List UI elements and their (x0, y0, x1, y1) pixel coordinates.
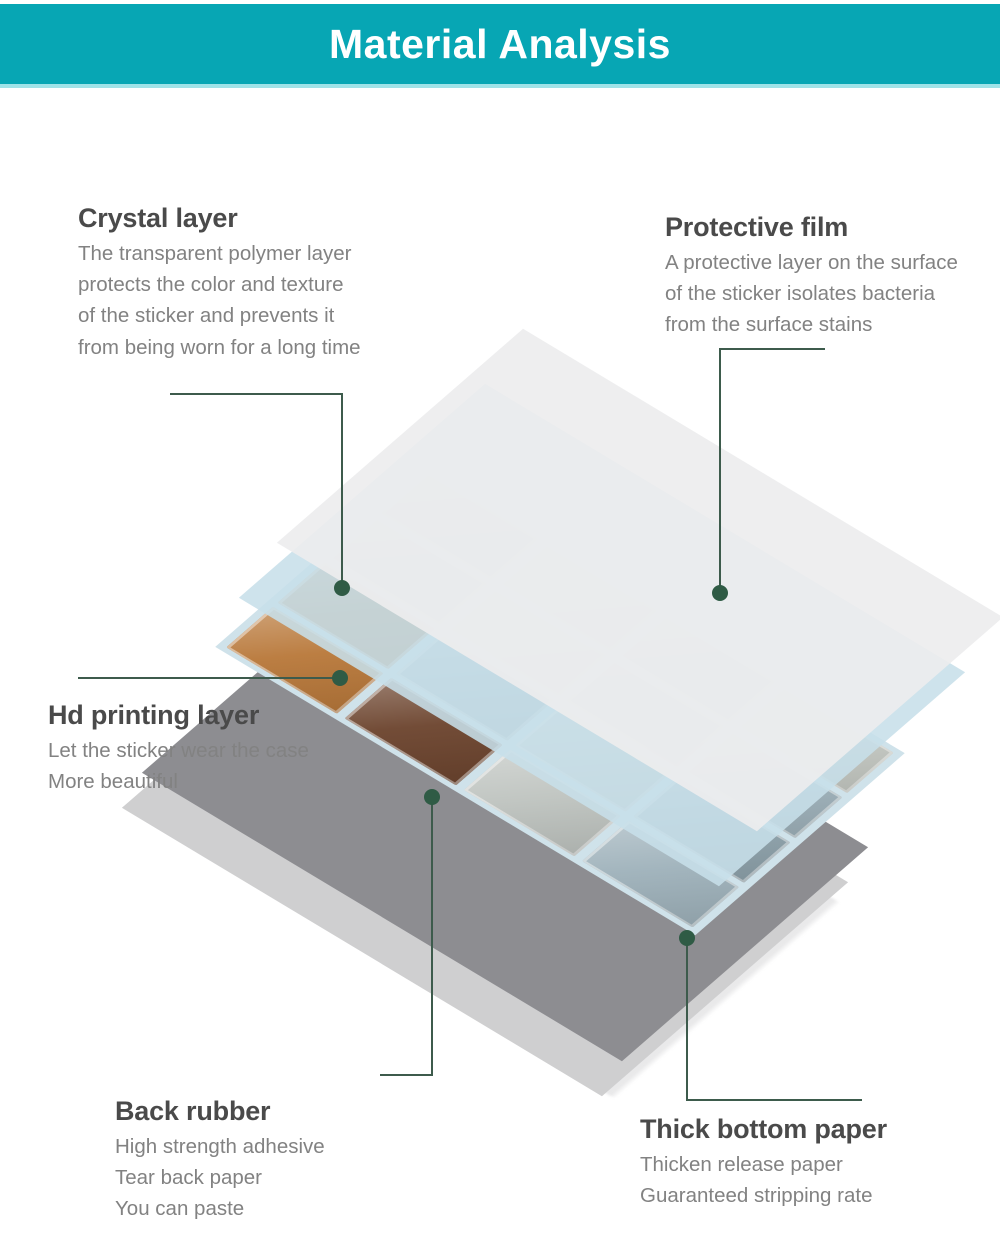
callout-line: Guaranteed stripping rate (640, 1184, 872, 1207)
leader-dot-crystal-layer (334, 580, 350, 596)
callout-line: More beautiful (48, 770, 178, 793)
callout-line: High strength adhesive (115, 1135, 325, 1158)
leader-line-back-rubber (380, 797, 432, 1075)
callout-line: Let the sticker wear the case (48, 739, 309, 762)
callout-body-thick-bottom-paper: Thicken release paper Guaranteed strippi… (640, 1149, 887, 1211)
callout-line: A protective layer on the surface (665, 251, 958, 274)
leader-line-protective-film (720, 349, 825, 593)
callout-title-thick-bottom-paper: Thick bottom paper (640, 1114, 887, 1145)
callout-line: Tear back paper (115, 1166, 262, 1189)
callout-title-protective-film: Protective film (665, 212, 958, 243)
callout-line: from being worn for a long time (78, 336, 361, 359)
callout-back-rubber: Back rubber High strength adhesive Tear … (115, 1096, 325, 1225)
leader-dot-protective-film (712, 585, 728, 601)
callout-line: You can paste (115, 1197, 244, 1220)
leader-line-thick-bottom-paper (687, 938, 862, 1100)
callout-body-protective-film: A protective layer on the surface of the… (665, 247, 958, 340)
leader-line-crystal-layer (170, 394, 342, 588)
leader-lines (0, 0, 1000, 1237)
callout-crystal-layer: Crystal layer The transparent polymer la… (78, 203, 361, 363)
leader-dot-hd-printing-layer (332, 670, 348, 686)
leader-dot-back-rubber (424, 789, 440, 805)
leader-dot-thick-bottom-paper (679, 930, 695, 946)
callout-line: from the surface stains (665, 313, 872, 336)
callout-line: protects the color and texture (78, 273, 344, 296)
callout-title-back-rubber: Back rubber (115, 1096, 325, 1127)
callout-line: of the sticker isolates bacteria (665, 282, 935, 305)
callout-line: of the sticker and prevents it (78, 304, 334, 327)
callout-title-hd-printing-layer: Hd printing layer (48, 700, 309, 731)
callout-line: The transparent polymer layer (78, 242, 351, 265)
callout-protective-film: Protective film A protective layer on th… (665, 212, 958, 341)
callout-line: Thicken release paper (640, 1153, 843, 1176)
callout-title-crystal-layer: Crystal layer (78, 203, 361, 234)
callout-body-crystal-layer: The transparent polymer layer protects t… (78, 238, 361, 363)
callout-body-hd-printing-layer: Let the sticker wear the case More beaut… (48, 735, 309, 797)
callout-hd-printing-layer: Hd printing layer Let the sticker wear t… (48, 700, 309, 797)
callout-thick-bottom-paper: Thick bottom paper Thicken release paper… (640, 1114, 887, 1211)
callout-body-back-rubber: High strength adhesive Tear back paper Y… (115, 1131, 325, 1224)
